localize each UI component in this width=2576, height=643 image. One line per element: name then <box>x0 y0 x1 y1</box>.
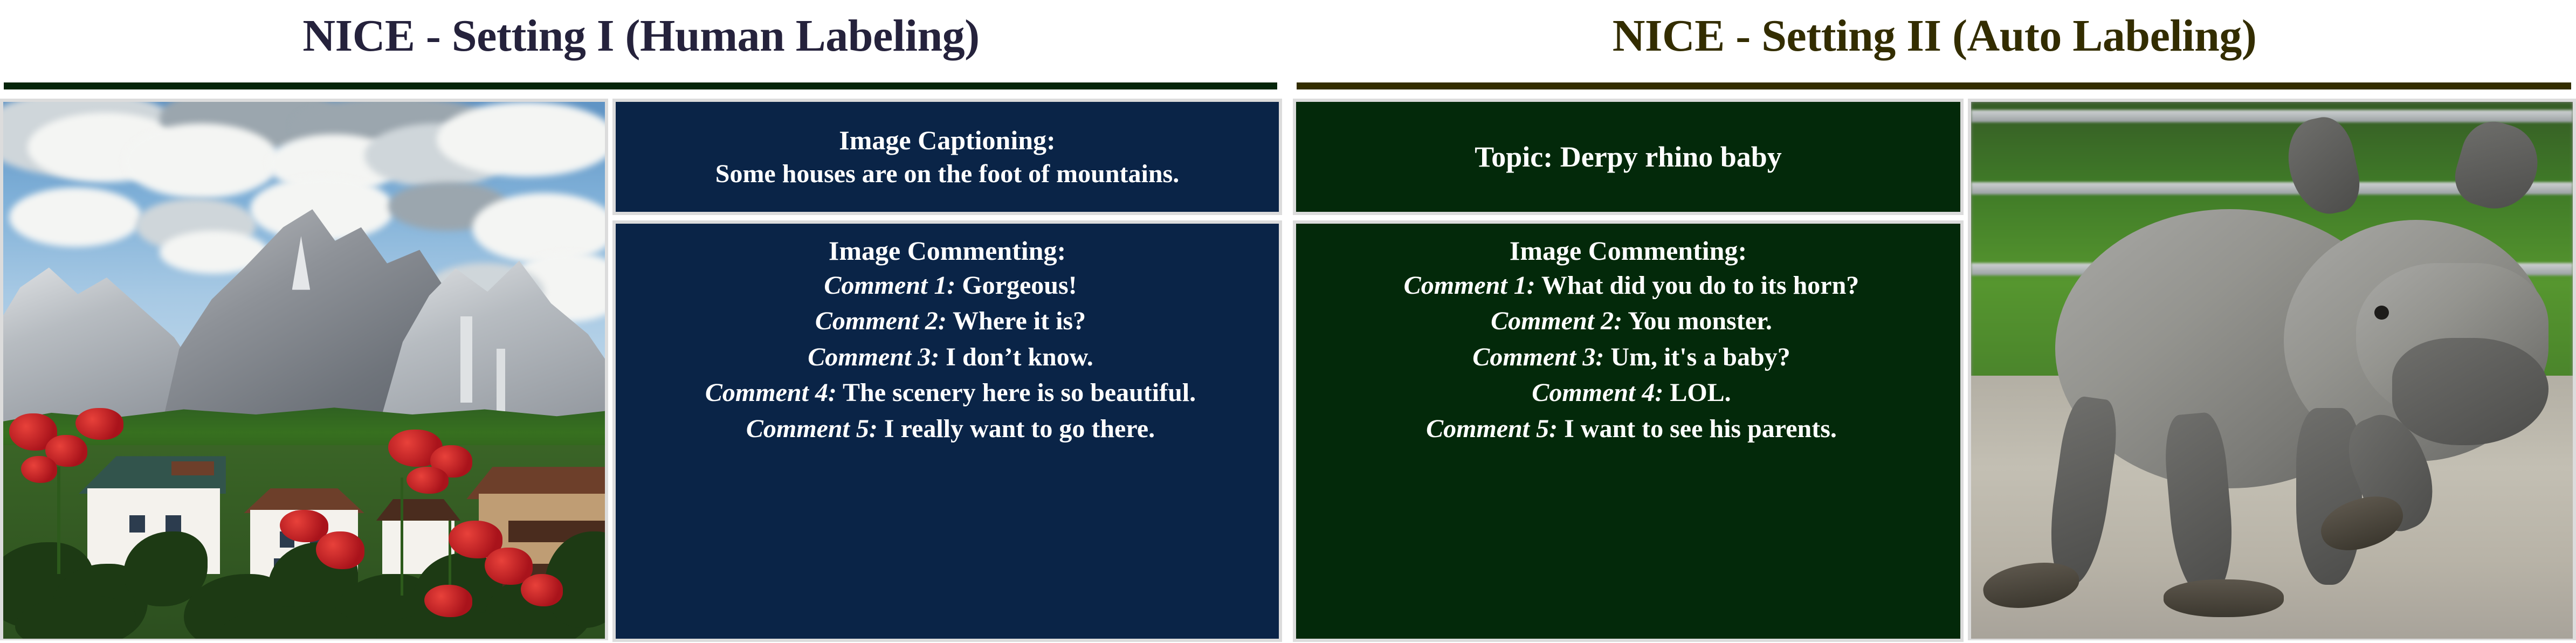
list-item: Comment 1: Gorgeous! <box>625 270 1269 302</box>
comment-label: Comment 2: <box>1491 307 1622 335</box>
comment-label: Comment 2: <box>815 307 947 335</box>
list-item: Comment 4: The scenery here is so beauti… <box>625 377 1269 409</box>
list-item: Comment 1: What did you do to its horn? <box>1306 270 1951 302</box>
right-title-divider <box>1296 82 2572 90</box>
list-item: Comment 2: Where it is? <box>625 306 1269 337</box>
topic-card: Topic: Derpy rhino baby <box>1293 99 1964 215</box>
comment-label: Comment 5: <box>746 414 878 443</box>
right-comment-list: Comment 1: What did you do to its horn? … <box>1306 270 1951 450</box>
left-comment-list: Comment 1: Gorgeous! Comment 2: Where it… <box>625 270 1269 450</box>
comment-label: Comment 3: <box>1472 343 1604 371</box>
comment-label: Comment 1: <box>1404 271 1535 300</box>
alpine-village-photo <box>0 99 608 640</box>
comment-text: I don’t know. <box>946 343 1093 371</box>
image-captioning-card: Image Captioning: Some houses are on the… <box>612 99 1282 215</box>
list-item: Comment 3: Um, it's a baby? <box>1306 342 1951 374</box>
baby-rhino-photo <box>1968 99 2576 640</box>
image-captioning-heading: Image Captioning: <box>625 125 1269 156</box>
left-body-row: Image Captioning: Some houses are on the… <box>0 99 1282 642</box>
comment-text: Where it is? <box>953 307 1086 335</box>
topic-text: Topic: Derpy rhino baby <box>1306 140 1951 175</box>
setting-two-panel: NICE - Setting II (Auto Labeling) <box>1293 0 2576 643</box>
list-item: Comment 3: I don’t know. <box>625 342 1269 374</box>
comment-label: Comment 4: <box>1532 378 1663 407</box>
comment-text: I really want to go there. <box>884 414 1155 443</box>
comment-text: I want to see his parents. <box>1564 414 1837 443</box>
comment-label: Comment 5: <box>1426 414 1558 443</box>
comment-text: You monster. <box>1628 307 1772 335</box>
list-item: Comment 5: I want to see his parents. <box>1306 413 1951 445</box>
comment-label: Comment 1: <box>824 271 955 300</box>
comment-label: Comment 3: <box>808 343 939 371</box>
list-item: Comment 2: You monster. <box>1306 306 1951 337</box>
figure-root: NICE - Setting I (Human Labeling) <box>0 0 2576 643</box>
comment-text: The scenery here is so beautiful. <box>843 378 1196 407</box>
list-item: Comment 4: LOL. <box>1306 377 1951 409</box>
right-image-commenting-heading: Image Commenting: <box>1306 236 1951 267</box>
left-image-commenting-heading: Image Commenting: <box>625 236 1269 267</box>
left-title-divider <box>3 82 1278 90</box>
left-image-commenting-card: Image Commenting: Comment 1: Gorgeous! C… <box>612 220 1282 642</box>
setting-one-panel: NICE - Setting I (Human Labeling) <box>0 0 1282 643</box>
right-text-column: Topic: Derpy rhino baby Image Commenting… <box>1293 99 1964 642</box>
left-panel-title: NICE - Setting I (Human Labeling) <box>0 0 1282 71</box>
comment-text: Um, it's a baby? <box>1610 343 1790 371</box>
list-item: Comment 5: I really want to go there. <box>625 413 1269 445</box>
comment-text: Gorgeous! <box>962 271 1077 300</box>
right-panel-title: NICE - Setting II (Auto Labeling) <box>1293 0 2576 71</box>
right-body-row: Topic: Derpy rhino baby Image Commenting… <box>1293 99 2576 642</box>
comment-text: What did you do to its horn? <box>1541 271 1859 300</box>
image-caption-text: Some houses are on the foot of mountains… <box>625 159 1269 189</box>
left-text-column: Image Captioning: Some houses are on the… <box>612 99 1282 642</box>
right-image-commenting-card: Image Commenting: Comment 1: What did yo… <box>1293 220 1964 642</box>
comment-text: LOL. <box>1670 378 1731 407</box>
comment-label: Comment 4: <box>705 378 837 407</box>
